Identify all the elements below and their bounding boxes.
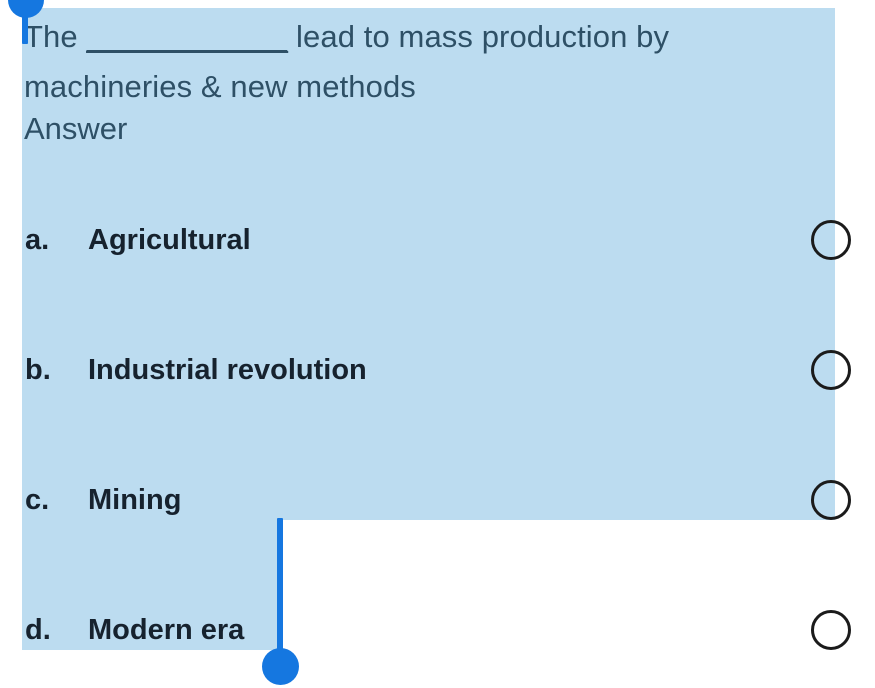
option-row-a[interactable]: a. Agricultural: [0, 217, 875, 263]
question-text-before-blank: The: [24, 19, 86, 54]
option-letter-c: c.: [25, 484, 49, 517]
option-row-b[interactable]: b. Industrial revolution: [0, 347, 875, 393]
option-letter-b: b.: [25, 354, 51, 387]
radio-button-b[interactable]: [811, 350, 851, 390]
option-label-b: Industrial revolution: [88, 354, 367, 387]
screen-root: The ____________ lead to mass production…: [0, 0, 875, 688]
radio-button-d[interactable]: [811, 610, 851, 650]
question-text[interactable]: The ____________ lead to mass production…: [24, 12, 824, 112]
text-selection-end-handle[interactable]: [262, 648, 299, 685]
option-label-d: Modern era: [88, 614, 244, 647]
option-row-c[interactable]: c. Mining: [0, 477, 875, 523]
option-label-a: Agricultural: [88, 224, 251, 257]
radio-button-c[interactable]: [811, 480, 851, 520]
option-label-c: Mining: [88, 484, 181, 517]
option-letter-a: a.: [25, 224, 49, 257]
text-selection-end-handle-bar[interactable]: [277, 518, 283, 652]
option-letter-d: d.: [25, 614, 51, 647]
option-row-d[interactable]: d. Modern era: [0, 607, 875, 653]
radio-button-a[interactable]: [811, 220, 851, 260]
question-blank: ____________: [86, 19, 287, 54]
answer-label: Answer: [24, 110, 127, 148]
